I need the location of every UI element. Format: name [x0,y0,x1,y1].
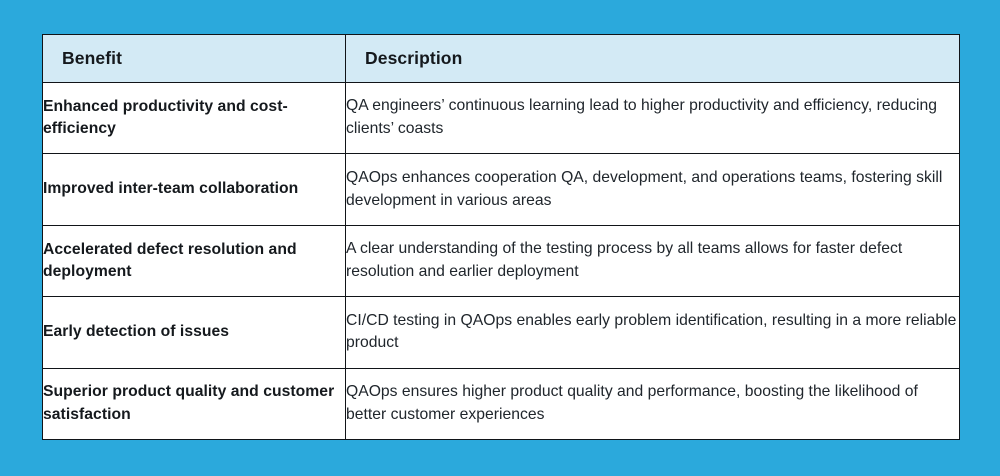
column-header-description: Description [346,35,960,83]
cell-benefit: Accelerated defect resolution and deploy… [43,225,346,296]
table-row: Early detection of issues CI/CD testing … [43,297,960,368]
cell-benefit: Superior product quality and customer sa… [43,368,346,439]
cell-benefit: Enhanced productivity and cost-efficienc… [43,83,346,154]
table-row: Superior product quality and customer sa… [43,368,960,439]
table-body: Enhanced productivity and cost-efficienc… [43,83,960,440]
table-row: Improved inter-team collaboration QAOps … [43,154,960,225]
column-header-description-label: Description [346,48,959,69]
table-header: Benefit Description [43,35,960,83]
benefits-table-container: Benefit Description Enhanced productivit… [42,34,959,438]
column-header-benefit-label: Benefit [43,48,345,69]
cell-benefit: Improved inter-team collaboration [43,154,346,225]
table-row: Enhanced productivity and cost-efficienc… [43,83,960,154]
cell-description: CI/CD testing in QAOps enables early pro… [346,297,960,368]
table-row: Accelerated defect resolution and deploy… [43,225,960,296]
cell-benefit: Early detection of issues [43,297,346,368]
cell-description: QAOps enhances cooperation QA, developme… [346,154,960,225]
cell-description: A clear understanding of the testing pro… [346,225,960,296]
cell-description: QAOps ensures higher product quality and… [346,368,960,439]
benefits-table: Benefit Description Enhanced productivit… [42,34,960,440]
column-header-benefit: Benefit [43,35,346,83]
page-background: Benefit Description Enhanced productivit… [0,0,1000,476]
table-header-row: Benefit Description [43,35,960,83]
cell-description: QA engineers’ continuous learning lead t… [346,83,960,154]
